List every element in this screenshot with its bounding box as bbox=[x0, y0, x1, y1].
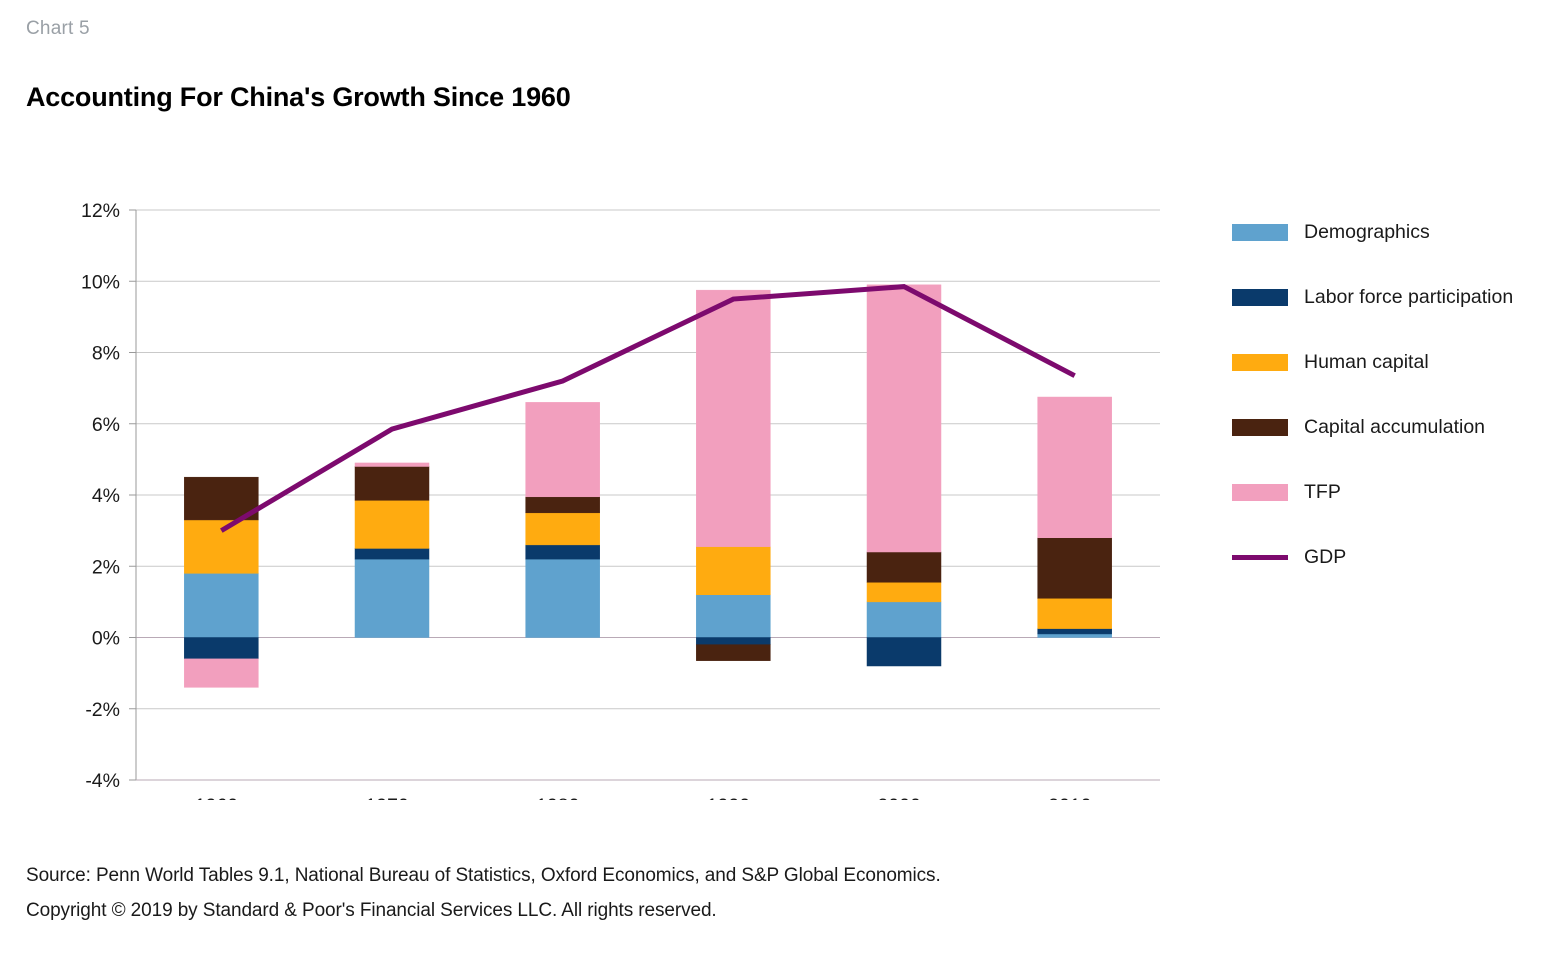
legend-item-label: GDP bbox=[1304, 546, 1346, 569]
y-axis-tick-label: 8% bbox=[92, 343, 120, 365]
bar-segment-human-capital[interactable] bbox=[867, 582, 941, 602]
bar-segment-labor-force-participation[interactable] bbox=[867, 638, 941, 667]
legend-item-label: Demographics bbox=[1304, 221, 1430, 244]
bar-segment-demographics[interactable] bbox=[696, 595, 770, 638]
legend-item-tfp[interactable]: TFP bbox=[1232, 460, 1552, 525]
bar-segment-capital-accumulation[interactable] bbox=[526, 497, 600, 513]
legend-item-label: Capital accumulation bbox=[1304, 416, 1485, 439]
bar-segment-demographics[interactable] bbox=[867, 602, 941, 638]
x-axis-tick-label: 2010s bbox=[1048, 795, 1101, 800]
bar-segment-labor-force-participation[interactable] bbox=[696, 638, 770, 645]
x-axis-tick-label: 1970s bbox=[365, 795, 418, 800]
y-axis-tick-label: -4% bbox=[85, 770, 120, 792]
legend-item-label: Human capital bbox=[1304, 351, 1429, 374]
bar-segment-capital-accumulation[interactable] bbox=[867, 552, 941, 582]
bar-segment-demographics[interactable] bbox=[184, 573, 258, 637]
legend-color-swatch bbox=[1232, 289, 1288, 306]
bar-segment-labor-force-participation[interactable] bbox=[1038, 629, 1112, 634]
legend-item-human-capital[interactable]: Human capital bbox=[1232, 330, 1552, 395]
bar-segment-human-capital[interactable] bbox=[355, 500, 429, 548]
bar-segment-tfp[interactable] bbox=[867, 285, 941, 552]
legend-color-swatch bbox=[1232, 224, 1288, 241]
chart-footer: Source: Penn World Tables 9.1, National … bbox=[26, 858, 1226, 928]
x-axis-tick-label: 1990s bbox=[707, 795, 760, 800]
source-note: Source: Penn World Tables 9.1, National … bbox=[26, 858, 1226, 893]
x-axis-labels: 1960s1970s1980s1990s2000s2010s bbox=[195, 795, 1102, 800]
bar-segment-tfp[interactable] bbox=[526, 402, 600, 496]
bar-segment-demographics[interactable] bbox=[1038, 634, 1112, 638]
y-axis-tick-label: 12% bbox=[81, 200, 120, 222]
bar-segment-labor-force-participation[interactable] bbox=[355, 548, 429, 559]
y-axis-tick-label: 6% bbox=[92, 414, 120, 436]
bar-segment-tfp[interactable] bbox=[355, 463, 429, 467]
x-axis-tick-label: 2000s bbox=[877, 795, 930, 800]
bar-segment-capital-accumulation[interactable] bbox=[355, 467, 429, 501]
bar-segment-human-capital[interactable] bbox=[526, 513, 600, 545]
bar-segment-labor-force-participation[interactable] bbox=[184, 638, 258, 659]
legend-item-label: TFP bbox=[1304, 481, 1341, 504]
chart-canvas: 12%10%8%6%4%2%0%-2%-4%1960s1970s1980s199… bbox=[0, 0, 1200, 800]
bar-segment-human-capital[interactable] bbox=[1038, 598, 1112, 628]
bar-segment-tfp[interactable] bbox=[184, 659, 258, 688]
chart-legend: DemographicsLabor force participationHum… bbox=[1232, 200, 1552, 590]
y-axis-tick-label: 10% bbox=[81, 271, 120, 293]
copyright-note: Copyright © 2019 by Standard & Poor's Fi… bbox=[26, 893, 1226, 928]
bar-group bbox=[184, 285, 1111, 688]
bar-segment-capital-accumulation[interactable] bbox=[1038, 538, 1112, 599]
y-axis-tick-label: 4% bbox=[92, 485, 120, 507]
legend-item-demographics[interactable]: Demographics bbox=[1232, 200, 1552, 265]
y-axis-tick-label: 2% bbox=[92, 556, 120, 578]
legend-color-swatch bbox=[1232, 354, 1288, 371]
legend-line-marker bbox=[1232, 555, 1288, 560]
legend-item-gdp[interactable]: GDP bbox=[1232, 525, 1552, 590]
bar-segment-tfp[interactable] bbox=[1038, 397, 1112, 538]
legend-item-labor-force-participation[interactable]: Labor force participation bbox=[1232, 265, 1552, 330]
y-axis-tick-label: 0% bbox=[92, 628, 120, 650]
y-axis-tick-label: -2% bbox=[85, 699, 120, 721]
bar-segment-labor-force-participation[interactable] bbox=[526, 545, 600, 559]
legend-item-capital-accumulation[interactable]: Capital accumulation bbox=[1232, 395, 1552, 460]
bar-segment-human-capital[interactable] bbox=[696, 547, 770, 595]
chart-plot-area: 12%10%8%6%4%2%0%-2%-4%1960s1970s1980s199… bbox=[0, 0, 1200, 800]
bar-segment-demographics[interactable] bbox=[526, 559, 600, 637]
x-axis-tick-label: 1980s bbox=[536, 795, 589, 800]
bar-segment-capital-accumulation[interactable] bbox=[696, 645, 770, 661]
bar-segment-tfp[interactable] bbox=[696, 290, 770, 547]
legend-item-label: Labor force participation bbox=[1304, 286, 1513, 309]
legend-color-swatch bbox=[1232, 419, 1288, 436]
x-axis-tick-label: 1960s bbox=[195, 795, 248, 800]
bar-segment-demographics[interactable] bbox=[355, 559, 429, 637]
gdp-line-series[interactable] bbox=[221, 287, 1074, 531]
legend-color-swatch bbox=[1232, 484, 1288, 501]
